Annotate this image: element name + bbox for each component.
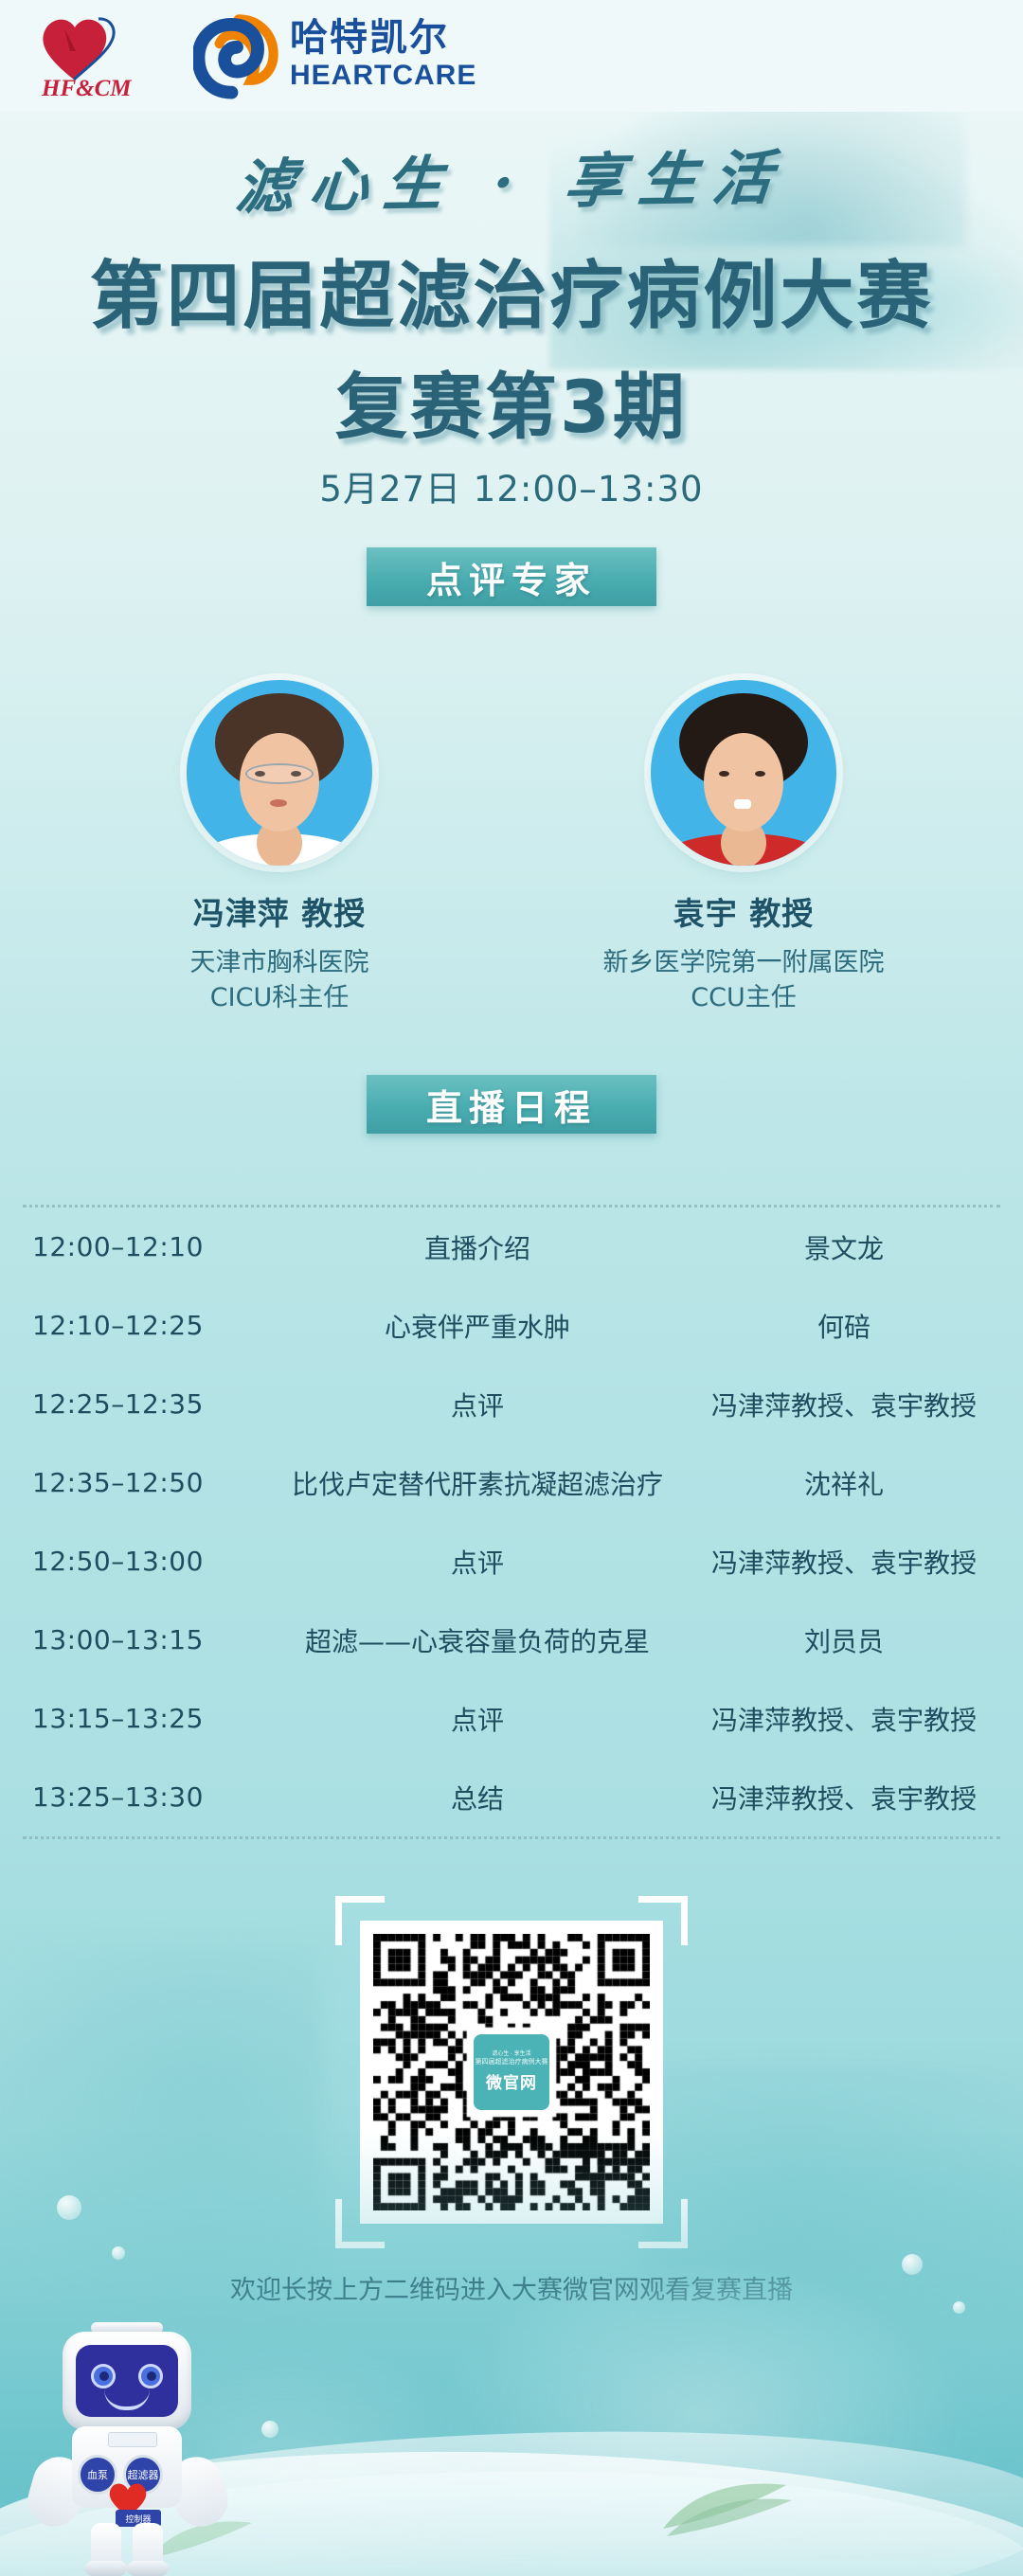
qr-center-line3: 微官网 xyxy=(486,2069,537,2093)
schedule-time: 13:15–13:25 xyxy=(23,1703,267,1734)
schedule-speaker: 沈祥礼 xyxy=(688,1464,1000,1502)
bubble-decoration xyxy=(261,2421,278,2438)
section-banner-schedule: 直播日程 xyxy=(367,1075,656,1134)
heartcare-logo: 哈特凯尔 HEARTCARE xyxy=(193,12,476,99)
robot-chest-badge xyxy=(108,2432,157,2447)
schedule-topic: 比伐卢定替代肝素抗凝超滤治疗 xyxy=(267,1464,688,1502)
schedule-speaker: 冯津萍教授、袁宇教授 xyxy=(688,1700,1000,1738)
table-row: 13:15–13:25点评冯津萍教授、袁宇教授 xyxy=(23,1679,1000,1758)
schedule-time: 12:25–12:35 xyxy=(23,1388,267,1420)
schedule-topic: 超滤——心衰容量负荷的克星 xyxy=(267,1621,688,1659)
robot-foot xyxy=(127,2561,169,2576)
schedule-speaker: 何碚 xyxy=(688,1307,1000,1345)
hfcm-logo-label: HF&CM xyxy=(42,76,131,102)
expert-org-line: 天津市胸科医院 xyxy=(123,945,436,980)
schedule-topic: 点评 xyxy=(267,1386,688,1423)
heartcare-logo-cn: 哈特凯尔 xyxy=(290,19,476,57)
qr-center-line2: 第四届超滤治疗病例大赛 xyxy=(476,2059,548,2066)
expert-org: 新乡医学院第一附属医院 CCU主任 xyxy=(587,945,900,1016)
schedule-speaker: 冯津萍教授、袁宇教授 xyxy=(688,1543,1000,1581)
table-row: 13:00–13:15超滤——心衰容量负荷的克星刘员员 xyxy=(23,1601,1000,1679)
schedule-time: 12:10–12:25 xyxy=(23,1310,267,1341)
ink-wash-decoration xyxy=(644,2065,1023,2462)
expert-role-line: CICU科主任 xyxy=(123,980,436,1015)
robot-foot xyxy=(85,2561,127,2576)
schedule-topic: 心衰伴严重水肿 xyxy=(267,1307,688,1345)
expert-org-line: 新乡医学院第一附属医院 xyxy=(587,945,900,980)
table-row: 12:25–12:35点评冯津萍教授、袁宇教授 xyxy=(23,1365,1000,1443)
poster-canvas: HF&CM 哈特凯尔 HEARTCARE 滤心生 · 享生活 第四届超滤治疗病例… xyxy=(0,0,1023,2576)
section-banner-experts: 点评专家 xyxy=(367,547,656,606)
qr-code-block[interactable]: 滤心生 · 享生活 第四届超滤治疗病例大赛 微官网 xyxy=(335,1896,688,2248)
schedule-speaker: 刘员员 xyxy=(688,1621,1000,1659)
bubble-decoration xyxy=(57,2195,81,2220)
section-banner-schedule-label: 直播日程 xyxy=(426,1079,597,1131)
robot-eye-icon xyxy=(138,2364,163,2388)
robot-mascot: 血泵 超滤器 控制器 xyxy=(17,2322,235,2576)
leaf-decoration xyxy=(654,2462,796,2548)
expert-org: 天津市胸科医院 CICU科主任 xyxy=(123,945,436,1016)
robot-eye-icon xyxy=(91,2364,116,2388)
schedule-speaker: 景文龙 xyxy=(688,1228,1000,1266)
page-title: 第四届超滤治疗病例大赛 xyxy=(0,237,1023,343)
expert-role-line: CCU主任 xyxy=(587,980,900,1015)
logo-bar: HF&CM 哈特凯尔 HEARTCARE xyxy=(0,0,1023,112)
schedule-time: 12:50–13:00 xyxy=(23,1546,267,1577)
robot-face-screen xyxy=(76,2345,178,2417)
page-subtitle: 复赛第3期 xyxy=(0,349,1023,453)
expert-card: 冯津萍 教授 天津市胸科医院 CICU科主任 xyxy=(123,680,436,1016)
schedule-topic: 点评 xyxy=(267,1700,688,1738)
schedule-topic: 总结 xyxy=(267,1779,688,1816)
expert-name: 袁宇 教授 xyxy=(587,888,900,934)
event-datetime: 5月27日 12:00–13:30 xyxy=(0,460,1023,511)
heart-icon xyxy=(36,9,155,83)
table-row: 13:25–13:30总结冯津萍教授、袁宇教授 xyxy=(23,1758,1000,1836)
expert-card: 袁宇 教授 新乡医学院第一附属医院 CCU主任 xyxy=(587,680,900,1016)
expert-avatar xyxy=(651,680,836,866)
swirl-logo-icon xyxy=(193,12,280,99)
qr-center-logo: 滤心生 · 享生活 第四届超滤治疗病例大赛 微官网 xyxy=(470,2030,553,2114)
table-row: 12:35–12:50比伐卢定替代肝素抗凝超滤治疗沈祥礼 xyxy=(23,1443,1000,1522)
schedule-table: 12:00–12:10直播介绍景文龙12:10–12:25心衰伴严重水肿何碚12… xyxy=(23,1205,1000,1839)
schedule-topic: 点评 xyxy=(267,1543,688,1581)
expert-name: 冯津萍 教授 xyxy=(123,888,436,934)
robot-smile-icon xyxy=(104,2389,150,2410)
divider xyxy=(23,1836,1000,1839)
schedule-topic: 直播介绍 xyxy=(267,1228,688,1266)
schedule-time: 13:25–13:30 xyxy=(23,1781,267,1813)
schedule-speaker: 冯津萍教授、袁宇教授 xyxy=(688,1779,1000,1816)
divider xyxy=(23,1205,1000,1207)
tagline: 滤心生 · 享生活 xyxy=(0,126,1023,229)
table-row: 12:10–12:25心衰伴严重水肿何碚 xyxy=(23,1286,1000,1365)
schedule-speaker: 冯津萍教授、袁宇教授 xyxy=(688,1386,1000,1423)
qr-code[interactable]: 滤心生 · 享生活 第四届超滤治疗病例大赛 微官网 xyxy=(360,1921,663,2224)
bubble-decoration xyxy=(112,2246,125,2260)
section-banner-experts-label: 点评专家 xyxy=(426,551,597,603)
heartcare-logo-en: HEARTCARE xyxy=(290,60,476,93)
hfcm-logo: HF&CM xyxy=(36,9,169,102)
experts-list: 冯津萍 教授 天津市胸科医院 CICU科主任 袁宇 教授 新乡医学院第一附属医院… xyxy=(0,680,1023,1016)
expert-avatar xyxy=(187,680,372,866)
table-row: 12:50–13:00点评冯津萍教授、袁宇教授 xyxy=(23,1522,1000,1601)
schedule-time: 12:35–12:50 xyxy=(23,1467,267,1498)
table-row: 12:00–12:10直播介绍景文龙 xyxy=(23,1207,1000,1286)
qr-caption: 欢迎长按上方二维码进入大赛微官网观看复赛直播 xyxy=(0,2269,1023,2306)
schedule-time: 12:00–12:10 xyxy=(23,1231,267,1262)
qr-center-line1: 滤心生 · 享生活 xyxy=(492,2051,530,2058)
schedule-time: 13:00–13:15 xyxy=(23,1624,267,1655)
